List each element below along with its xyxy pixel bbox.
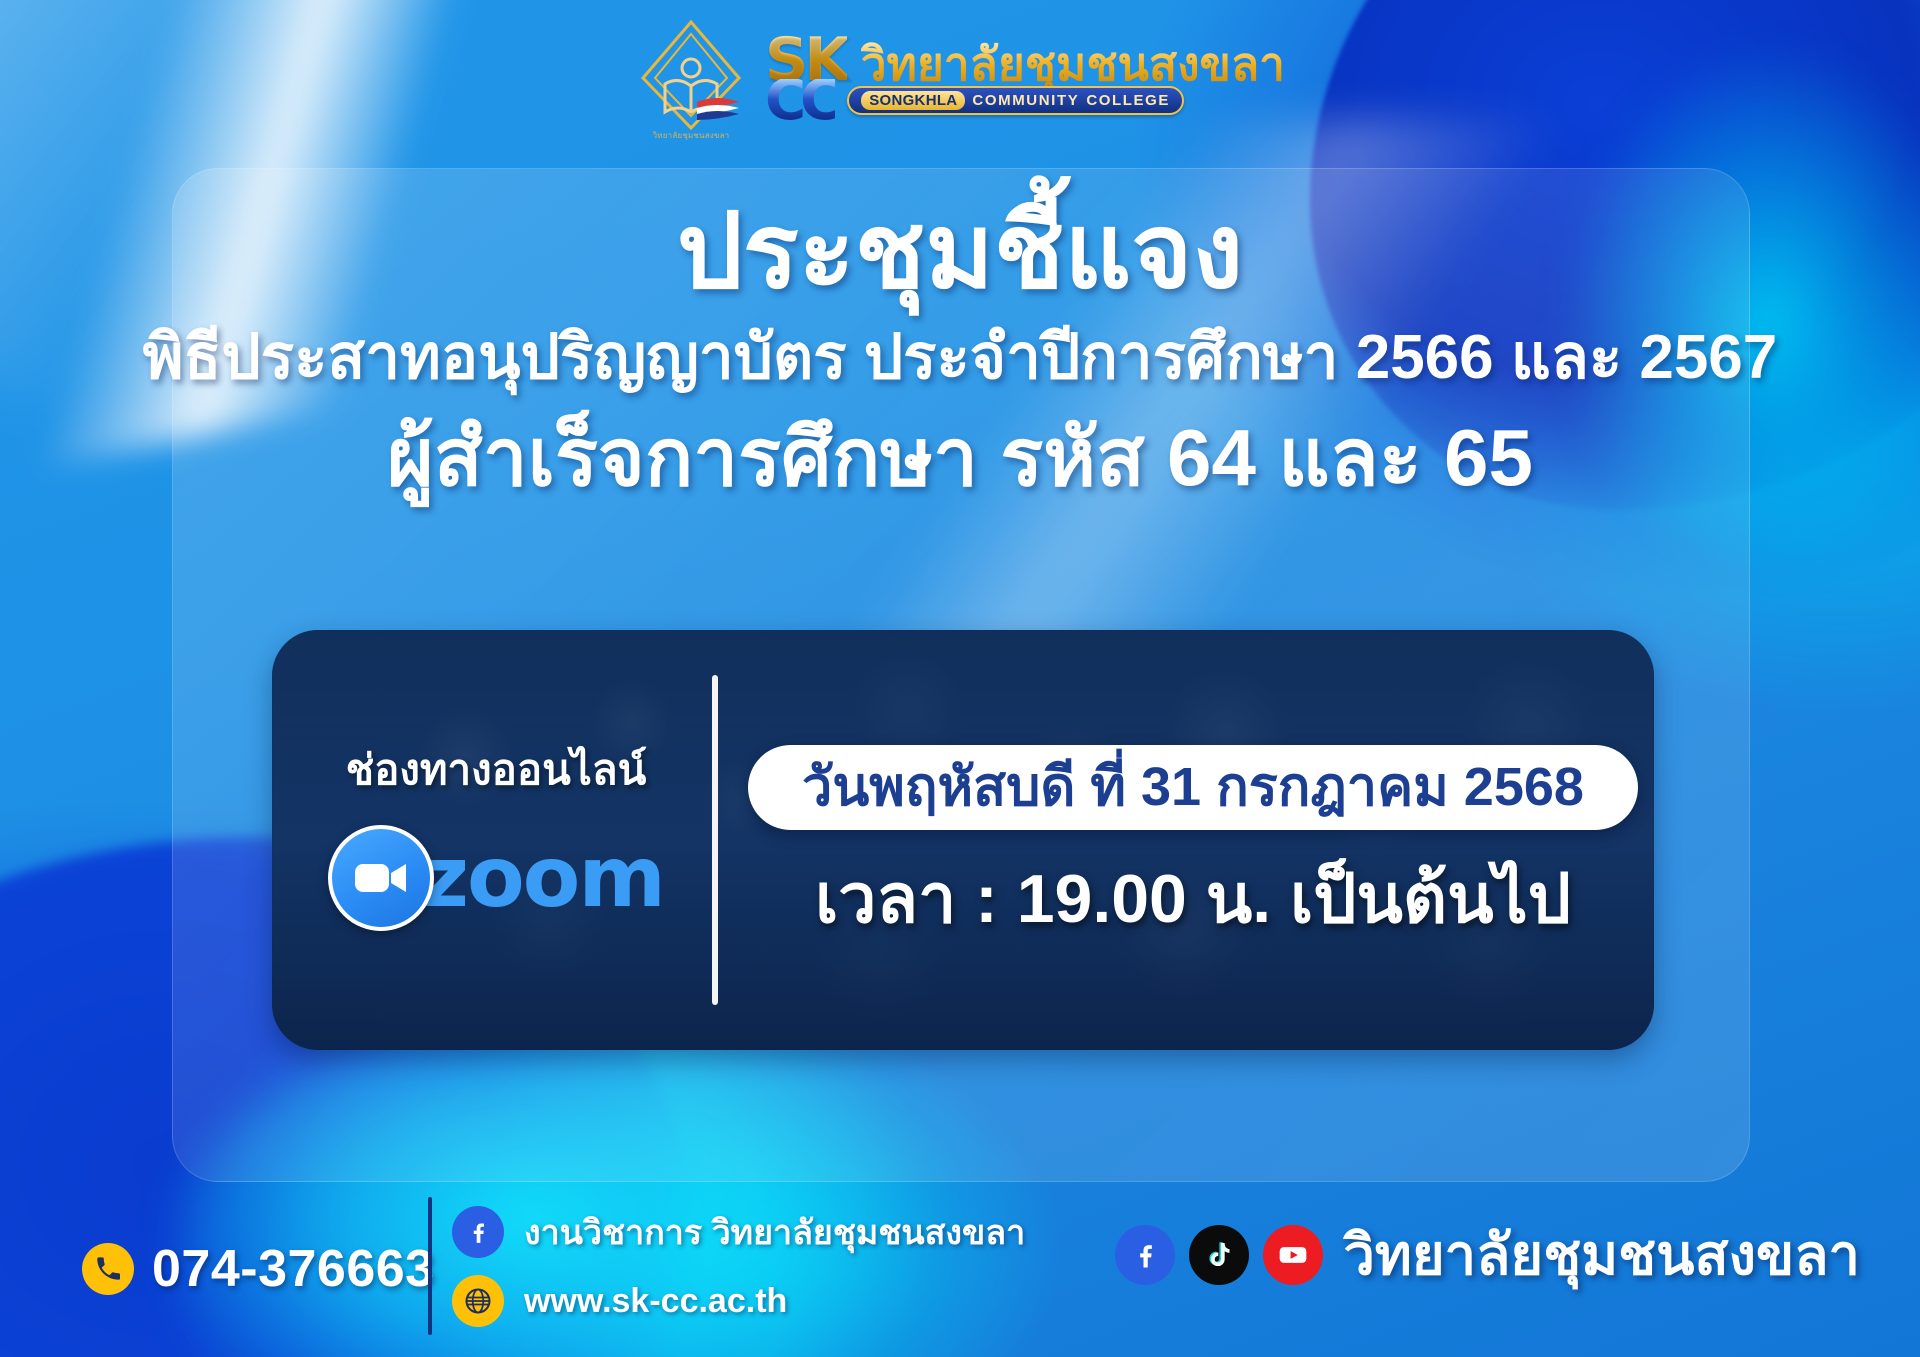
card-right-column: วันพฤหัสบดี ที่ 31 กรกฎาคม 2568 เวลา : 1… xyxy=(748,630,1654,1050)
page-title: ประชุมชี้แจง xyxy=(0,200,1920,304)
zoom-wordmark: zoom xyxy=(420,840,664,916)
globe-icon xyxy=(452,1275,504,1327)
youtube-social-icon[interactable] xyxy=(1263,1225,1323,1285)
card-left-column: ช่องทางออนไลน์ zoom xyxy=(272,630,706,1050)
event-date-text: วันพฤหัสบดี ที่ 31 กรกฎาคม 2568 xyxy=(802,757,1584,817)
footer-social-cluster: วิทยาลัยชุมชนสงขลา xyxy=(1115,1210,1860,1299)
poster-root: วิทยาลัยชุมชนสงขลา SK วิทยาลัยชุมชนสงขลา… xyxy=(0,0,1920,1357)
banner-community-text: COMMUNITY xyxy=(972,92,1079,109)
online-channel-label: ช่องทางออนไลน์ xyxy=(346,749,647,791)
logo-wordmark: SK วิทยาลัยชุมชนสงขลา CC SONGKHLA COMMUN… xyxy=(765,33,1285,124)
card-vertical-divider xyxy=(712,675,718,1005)
website-url-text: www.sk-cc.ac.th xyxy=(524,1282,787,1321)
college-name-banner: SONGKHLA COMMUNITY COLLEGE xyxy=(847,86,1184,115)
cc-abbrev-text: CC xyxy=(765,79,835,124)
footer-website-row[interactable]: www.sk-cc.ac.th xyxy=(452,1275,1025,1327)
footer-phone[interactable]: 074-376663 xyxy=(82,1239,435,1299)
page-third-line: ผู้สำเร็จการศึกษา รหัส 64 และ 65 xyxy=(0,414,1920,502)
footer-contacts: งานวิชาการ วิทยาลัยชุมชนสงขลา www.sk-cc.… xyxy=(452,1205,1025,1327)
event-info-card: ช่องทางออนไลน์ zoom วันพฤหัสบดี ที่ 31 ก… xyxy=(272,630,1654,1050)
header-logo-lockup: วิทยาลัยชุมชนสงขลา SK วิทยาลัยชุมชนสงขลา… xyxy=(0,8,1920,148)
social-handle-text: วิทยาลัยชุมชนสงขลา xyxy=(1343,1210,1860,1299)
facebook-page-name: งานวิชาการ วิทยาลัยชุมชนสงขลา xyxy=(524,1205,1025,1259)
footer: 074-376663 งานวิชาการ วิทยาลัยชุมชนสงขลา xyxy=(0,1177,1920,1357)
facebook-social-icon[interactable] xyxy=(1115,1225,1175,1285)
footer-divider xyxy=(428,1197,432,1335)
event-time-text: เวลา : 19.00 น. เป็นต้นไป xyxy=(815,864,1571,935)
college-crest-icon: วิทยาลัยชุมชนสงขลา xyxy=(635,16,747,140)
banner-college-text: COLLEGE xyxy=(1086,92,1170,109)
event-date-pill: วันพฤหัสบดี ที่ 31 กรกฎาคม 2568 xyxy=(748,745,1638,830)
phone-number-text: 074-376663 xyxy=(152,1239,435,1299)
banner-songkhla-pill: SONGKHLA xyxy=(861,91,965,110)
phone-icon xyxy=(82,1243,134,1295)
logo-bottom-row: CC SONGKHLA COMMUNITY COLLEGE xyxy=(765,79,1285,124)
page-subtitle: พิธีประสาทอนุปริญญาบัตร ประจำปีการศึกษา … xyxy=(0,324,1920,392)
footer-facebook-row[interactable]: งานวิชาการ วิทยาลัยชุมชนสงขลา xyxy=(452,1205,1025,1259)
facebook-icon xyxy=(452,1206,504,1258)
crest-caption: วิทยาลัยชุมชนสงขลา xyxy=(635,129,747,142)
zoom-camera-icon xyxy=(328,825,434,931)
zoom-logo[interactable]: zoom xyxy=(328,825,664,931)
tiktok-social-icon[interactable] xyxy=(1189,1225,1249,1285)
